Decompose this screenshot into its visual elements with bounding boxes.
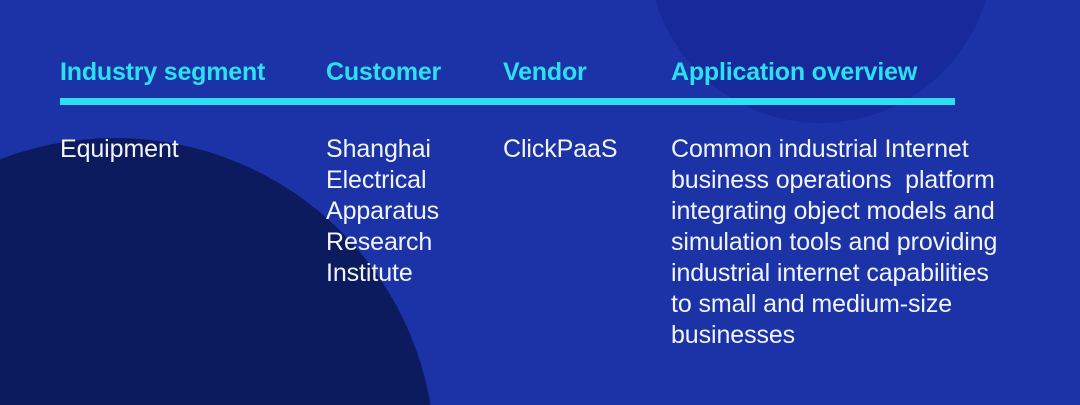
text-line: industrial internet capabilities (671, 258, 1051, 289)
cell-application-overview: Common industrial Internetbusiness opera… (671, 134, 1051, 351)
header-underline-rule (60, 98, 955, 105)
text-line: Shanghai (326, 134, 496, 165)
cell-customer: ShanghaiElectricalApparatusResearchInsti… (326, 134, 496, 289)
text-line: business operations platform (671, 165, 1051, 196)
text-line: Common industrial Internet (671, 134, 1051, 165)
text-line: Institute (326, 258, 496, 289)
column-header-vendor: Vendor (503, 56, 587, 88)
cell-industry-segment: Equipment (60, 134, 310, 165)
text-line: simulation tools and providing (671, 227, 1051, 258)
text-line: Apparatus (326, 196, 496, 227)
text-line: Electrical (326, 165, 496, 196)
text-line: ClickPaaS (503, 134, 663, 165)
text-line: to small and medium-size (671, 289, 1051, 320)
slide-canvas: Industry segment Customer Vendor Applica… (0, 0, 1080, 405)
text-line: integrating object models and (671, 196, 1051, 227)
text-line: Research (326, 227, 496, 258)
column-header-application-overview: Application overview (671, 56, 917, 88)
column-header-industry-segment: Industry segment (60, 56, 265, 88)
table-header-row: Industry segment Customer Vendor Applica… (0, 56, 1080, 92)
text-line: Equipment (60, 134, 310, 165)
text-line: businesses (671, 320, 1051, 351)
column-header-customer: Customer (326, 56, 441, 88)
cell-vendor: ClickPaaS (503, 134, 663, 165)
comparison-table: Industry segment Customer Vendor Applica… (0, 0, 1080, 405)
